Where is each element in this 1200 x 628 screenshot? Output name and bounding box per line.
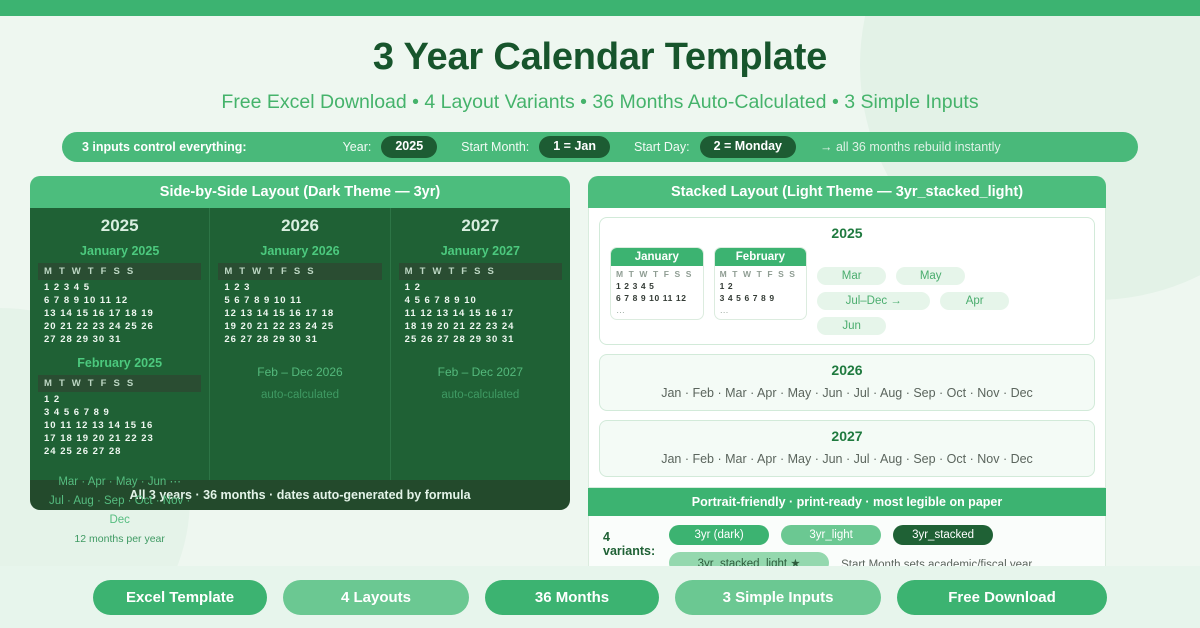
weekday-header: M T W T F S S — [399, 263, 562, 280]
ghost-range-label: Feb – Dec 2027 — [399, 365, 562, 379]
variant-chip-3yr-dark[interactable]: 3yr (dark) — [669, 525, 769, 545]
week-row: 1 2 — [399, 280, 562, 293]
start-month-label: Start Month: — [461, 140, 529, 154]
week-row: 11 12 13 14 15 16 17 — [399, 306, 562, 319]
weekday-header: M T W T F S S — [715, 266, 807, 280]
week-row: 1 2 3 — [218, 280, 381, 293]
bottom-button-row: Excel Template 4 Layouts 36 Months 3 Sim… — [0, 566, 1200, 628]
month-chip-jun[interactable]: Jun — [817, 317, 886, 335]
month-chip-mar[interactable]: Mar — [817, 267, 886, 285]
month-title: February 2025 — [38, 356, 201, 370]
week-row: 25 26 27 28 29 30 31 — [399, 332, 562, 345]
remaining-months-line-2: Jul · Aug · Sep · Oct · Nov · Dec — [38, 492, 201, 530]
year-heading: 2026 — [218, 216, 381, 236]
more-weeks-ellipsis: … — [611, 305, 703, 319]
page-root: 3 Year Calendar Template Free Excel Down… — [0, 0, 1200, 628]
variants-label: 4 variants: — [603, 525, 655, 558]
month-chip-may[interactable]: May — [896, 267, 965, 285]
button-4-layouts[interactable]: 4 Layouts — [283, 580, 469, 615]
side-by-side-body: 2025 January 2025 M T W T F S S 1 2 3 4 … — [30, 208, 570, 480]
remaining-months-line-1: Mar · Apr · May · Jun ⋯ — [38, 473, 201, 492]
week-row: 19 20 21 22 23 24 25 — [218, 319, 381, 332]
stacked-panel-footer: Portrait-friendly · print-ready · most l… — [588, 488, 1106, 516]
week-row: 1 2 — [715, 280, 807, 292]
week-row: 1 2 — [38, 392, 201, 405]
week-row: 1 2 3 4 5 — [611, 280, 703, 292]
year-heading: 2027 — [399, 216, 562, 236]
mini-calendar-january[interactable]: January M T W T F S S 1 2 3 4 5 6 7 8 9 … — [610, 247, 704, 320]
year-column-2026: 2026 January 2026 M T W T F S S 1 2 3 5 … — [209, 208, 389, 480]
mini-calendar-month-name: January — [611, 248, 703, 266]
weekday-header: M T W T F S S — [38, 375, 201, 392]
month-title: January 2025 — [38, 244, 201, 258]
button-3-simple-inputs[interactable]: 3 Simple Inputs — [675, 580, 881, 615]
week-row: 6 7 8 9 10 11 12 — [611, 292, 703, 304]
stacked-panel-header: Stacked Layout (Light Theme — 3yr_stacke… — [588, 176, 1106, 208]
top-accent-strip — [0, 0, 1200, 16]
week-row: 6 7 8 9 10 11 12 — [38, 293, 201, 306]
week-row: 17 18 19 20 21 22 23 — [38, 431, 201, 444]
stacked-panel-body: 2025 January M T W T F S S 1 2 3 4 5 6 7… — [588, 208, 1106, 488]
ghost-range-label: Feb – Dec 2026 — [218, 365, 381, 379]
year-card-2026: 2026 Jan · Feb · Mar · Apr · May · Jun ·… — [599, 354, 1095, 411]
weekday-header: M T W T F S S — [611, 266, 703, 280]
mini-calendar-month-name: February — [715, 248, 807, 266]
month-chip-jul-dec[interactable]: Jul–Dec → — [817, 292, 930, 310]
week-row: 13 14 15 16 17 18 19 — [38, 306, 201, 319]
inputs-bar-lead: 3 inputs control everything: — [82, 140, 247, 154]
button-free-download[interactable]: Free Download — [897, 580, 1107, 615]
week-row: 3 4 5 6 7 8 9 — [38, 405, 201, 418]
page-title: 3 Year Calendar Template — [0, 36, 1200, 79]
week-row: 24 25 26 27 28 — [38, 444, 201, 457]
ghost-auto-calculated-label: auto-calculated — [399, 389, 562, 401]
year-value[interactable]: 2025 — [381, 136, 437, 158]
button-excel-template[interactable]: Excel Template — [93, 580, 267, 615]
weekday-header: M T W T F S S — [38, 263, 201, 280]
months-per-year-note: 12 months per year — [38, 533, 201, 545]
weekday-header: M T W T F S S — [218, 263, 381, 280]
start-day-label: Start Day: — [634, 140, 690, 154]
year-column-2025: 2025 January 2025 M T W T F S S 1 2 3 4 … — [30, 208, 209, 480]
side-by-side-panel: Side-by-Side Layout (Dark Theme — 3yr) 2… — [30, 176, 570, 586]
year-label: Year: — [343, 140, 372, 154]
variant-chip-3yr-stacked[interactable]: 3yr_stacked — [893, 525, 993, 545]
week-row: 18 19 20 21 22 23 24 — [399, 319, 562, 332]
months-inline-list: Jan · Feb · Mar · Apr · May · Jun · Jul … — [610, 384, 1084, 401]
stacked-panel: Stacked Layout (Light Theme — 3yr_stacke… — [588, 176, 1106, 586]
mini-calendar-february[interactable]: February M T W T F S S 1 2 3 4 5 6 7 8 9… — [714, 247, 808, 320]
ghost-auto-calculated-label: auto-calculated — [218, 389, 381, 401]
month-chips-group: Mar May Jul–Dec → Apr Jun — [817, 247, 1084, 335]
year-heading: 2025 — [38, 216, 201, 236]
inputs-bar-tail: → all 36 months rebuild instantly — [820, 140, 1001, 154]
week-row: 4 5 6 7 8 9 10 — [399, 293, 562, 306]
start-day-value[interactable]: 2 = Monday — [700, 136, 796, 158]
month-title: January 2027 — [399, 244, 562, 258]
week-row: 20 21 22 23 24 25 26 — [38, 319, 201, 332]
months-inline-list: Jan · Feb · Mar · Apr · May · Jun · Jul … — [610, 450, 1084, 467]
year-card-2027: 2027 Jan · Feb · Mar · Apr · May · Jun ·… — [599, 420, 1095, 477]
week-row: 26 27 28 29 30 31 — [218, 332, 381, 345]
week-row: 12 13 14 15 16 17 18 — [218, 306, 381, 319]
button-36-months[interactable]: 36 Months — [485, 580, 659, 615]
variant-chip-3yr-light[interactable]: 3yr_light — [781, 525, 881, 545]
month-chip-apr[interactable]: Apr — [940, 292, 1009, 310]
week-row: 3 4 5 6 7 8 9 — [715, 292, 807, 304]
page-subtitle: Free Excel Download • 4 Layout Variants … — [0, 91, 1200, 114]
year-card-title: 2026 — [610, 362, 1084, 378]
side-by-side-panel-header: Side-by-Side Layout (Dark Theme — 3yr) — [30, 176, 570, 208]
inputs-bar: 3 inputs control everything: Year: 2025 … — [62, 132, 1138, 162]
year-card-title: 2027 — [610, 428, 1084, 444]
mini-calendar-row: January M T W T F S S 1 2 3 4 5 6 7 8 9 … — [610, 247, 1084, 335]
week-row: 27 28 29 30 31 — [38, 332, 201, 345]
week-row: 1 2 3 4 5 — [38, 280, 201, 293]
year-card-title: 2025 — [610, 225, 1084, 241]
year-card-2025: 2025 January M T W T F S S 1 2 3 4 5 6 7… — [599, 217, 1095, 345]
page-content: 3 Year Calendar Template Free Excel Down… — [0, 36, 1200, 626]
start-month-value[interactable]: 1 = Jan — [539, 136, 610, 158]
week-row: 10 11 12 13 14 15 16 — [38, 418, 201, 431]
month-title: January 2026 — [218, 244, 381, 258]
week-row: 5 6 7 8 9 10 11 — [218, 293, 381, 306]
panels-container: Side-by-Side Layout (Dark Theme — 3yr) 2… — [30, 176, 1170, 586]
more-weeks-ellipsis: … — [715, 305, 807, 319]
year-column-2027: 2027 January 2027 M T W T F S S 1 2 4 5 … — [390, 208, 570, 480]
